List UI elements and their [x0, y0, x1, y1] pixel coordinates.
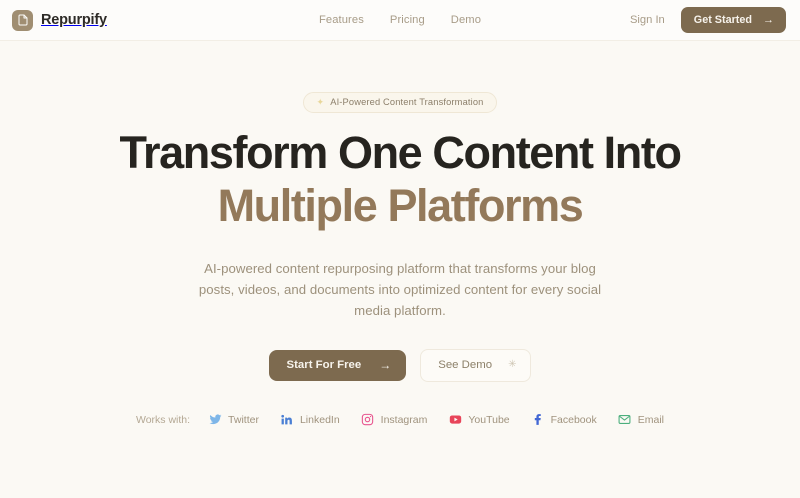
nav-item-pricing[interactable]: Pricing [390, 14, 425, 26]
twitter-icon [208, 413, 222, 427]
platform-name: YouTube [468, 414, 509, 426]
platform-name: LinkedIn [300, 414, 340, 426]
platform-youtube: YouTube [448, 413, 509, 427]
header-actions: Sign In Get Started → [630, 7, 786, 33]
site-header: Repurpify Features Pricing Demo Sign In … [0, 0, 800, 41]
see-demo-label: See Demo [438, 359, 492, 371]
arrow-right-icon: → [379, 359, 391, 371]
sign-in-link[interactable]: Sign In [630, 14, 665, 26]
start-for-free-button[interactable]: Start For Free → [269, 350, 407, 381]
page-title: Transform One Content Into Multiple Plat… [119, 130, 680, 230]
headline-line-2: Multiple Platforms [119, 183, 680, 230]
facebook-icon [531, 413, 545, 427]
platform-email: Email [618, 413, 664, 427]
hero-badge-label: AI-Powered Content Transformation [330, 97, 483, 107]
platform-name: Instagram [381, 414, 428, 426]
nav-item-features[interactable]: Features [319, 14, 364, 26]
arrow-right-icon: → [763, 15, 774, 26]
start-for-free-label: Start For Free [287, 359, 362, 371]
cta-row: Start For Free → See Demo ✳ [269, 349, 532, 382]
works-with-label: Works with: [136, 414, 190, 426]
platform-name: Email [638, 414, 664, 426]
platform-linkedin: LinkedIn [280, 413, 340, 427]
headline-line-1: Transform One Content Into [119, 127, 680, 178]
youtube-icon [448, 413, 462, 427]
instagram-icon [361, 413, 375, 427]
get-started-button[interactable]: Get Started → [681, 7, 786, 33]
main-nav: Features Pricing Demo [319, 14, 481, 26]
hero-section: ✦ AI-Powered Content Transformation Tran… [0, 41, 800, 498]
sparkle-icon: ✳ [508, 360, 516, 370]
brand-logo-link[interactable]: Repurpify [12, 10, 107, 31]
brand-name: Repurpify [41, 12, 107, 28]
platform-twitter: Twitter [208, 413, 259, 427]
hero-badge: ✦ AI-Powered Content Transformation [303, 92, 498, 113]
hero-subtitle: AI-powered content repurposing platform … [188, 258, 612, 322]
document-icon [12, 10, 33, 31]
nav-item-demo[interactable]: Demo [451, 14, 481, 26]
sparkle-icon: ✦ [317, 98, 325, 107]
linkedin-icon [280, 413, 294, 427]
see-demo-button[interactable]: See Demo ✳ [420, 349, 531, 382]
email-icon [618, 413, 632, 427]
platform-instagram: Instagram [361, 413, 428, 427]
platform-name: Twitter [228, 414, 259, 426]
platform-name: Facebook [551, 414, 597, 426]
works-with-row: Works with: Twitter LinkedIn [136, 413, 664, 427]
platform-facebook: Facebook [531, 413, 597, 427]
get-started-label: Get Started [694, 14, 752, 26]
landing-page: Repurpify Features Pricing Demo Sign In … [0, 0, 800, 498]
